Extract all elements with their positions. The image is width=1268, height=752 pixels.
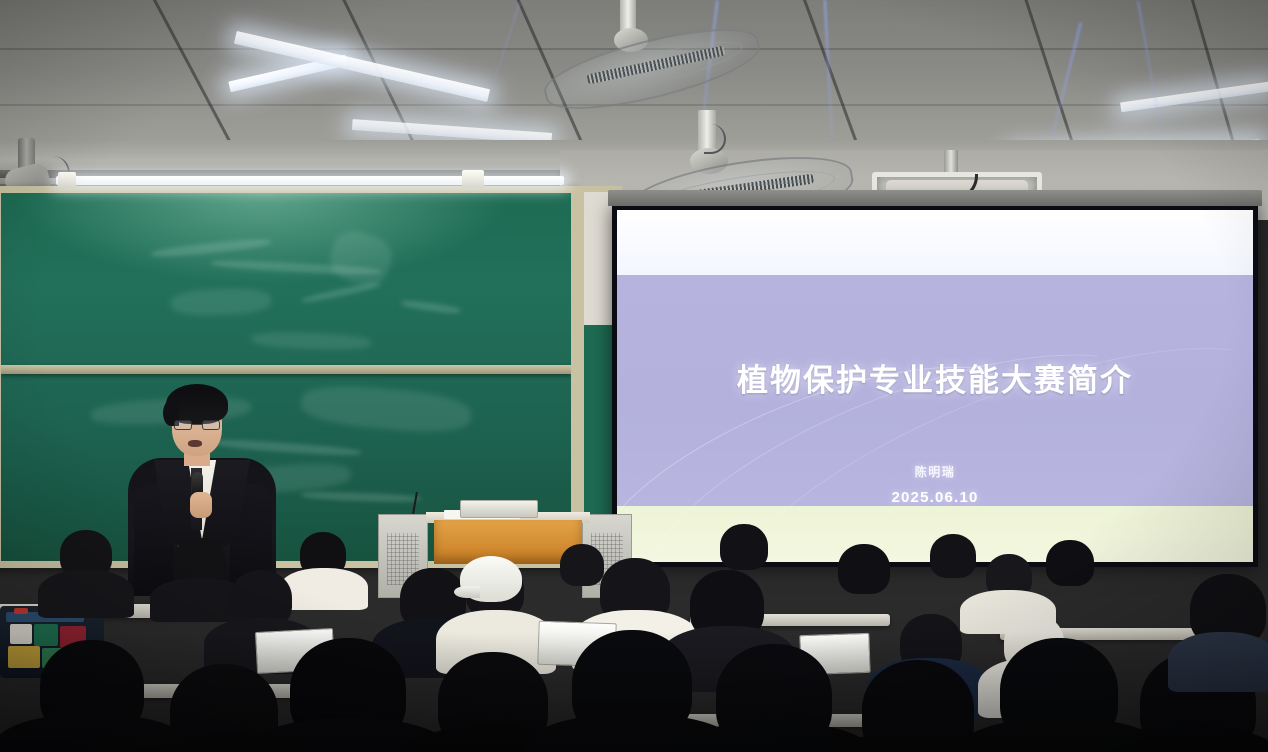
- audience-head: [1046, 540, 1094, 586]
- ceiling-light-panel: [1120, 82, 1268, 113]
- presenter-hand: [190, 492, 212, 518]
- audience-shoulders: [38, 570, 134, 618]
- board-light-tube: [56, 176, 564, 185]
- audience-head: [838, 544, 890, 594]
- ceiling-fan-icon: [556, 0, 796, 116]
- audience: [0, 518, 1268, 752]
- board-light-end-cap: [462, 170, 484, 188]
- slide-content: 植物保护专业技能大赛简介 陈明瑞 2025.06.10: [617, 210, 1253, 562]
- baseball-cap: [460, 556, 522, 602]
- slide-main-band: 植物保护专业技能大赛简介 陈明瑞 2025.06.10: [617, 275, 1253, 506]
- audience-shoulders: [280, 568, 368, 610]
- presenter-hair: [166, 384, 228, 424]
- board-light-end-cap: [58, 172, 76, 188]
- lectern-monitor: [460, 500, 538, 518]
- screen-roller-casing: [608, 190, 1262, 206]
- projection-screen: 植物保护专业技能大赛简介 陈明瑞 2025.06.10: [612, 206, 1258, 567]
- audience-shoulders: [1168, 632, 1268, 692]
- lecture-hall-photo: 植物保护专业技能大赛简介 陈明瑞 2025.06.10: [0, 0, 1268, 752]
- eyeglasses-icon: [174, 420, 220, 430]
- audience-head: [930, 534, 976, 578]
- audience-head: [560, 544, 604, 586]
- audience-head: [720, 524, 768, 570]
- slide-top-band: [617, 210, 1253, 275]
